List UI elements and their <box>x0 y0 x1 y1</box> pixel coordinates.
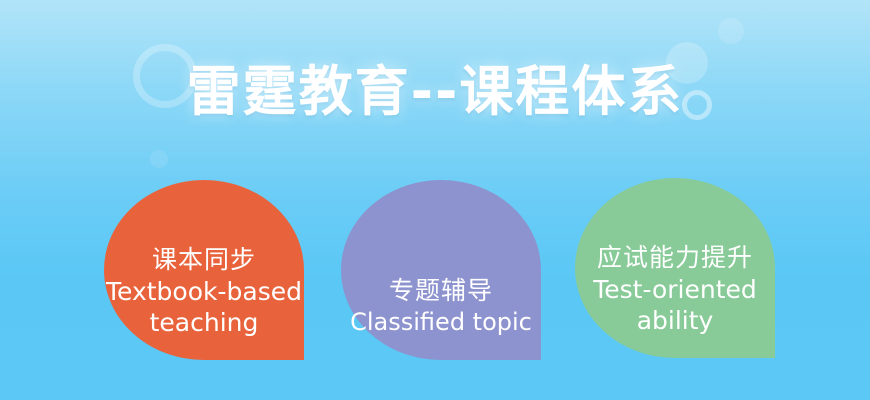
category-card-test-oriented[interactable]: 应试能力提升 Test-oriented ability <box>575 178 775 358</box>
banner-title: 雷霆教育--课程体系 <box>0 58 870 126</box>
course-system-banner: 雷霆教育--课程体系 课本同步 Textbook-based teaching … <box>0 0 870 400</box>
category-card-title-en-line2: teaching <box>150 307 259 338</box>
bubble-soft-topright-icon <box>718 18 744 44</box>
category-card-classified-topic[interactable]: 专题辅导 Classified topic <box>341 180 541 360</box>
category-blob-group: 课本同步 Textbook-based teaching 专题辅导 Classi… <box>0 180 870 365</box>
category-card-title-en-line1: Classified topic <box>350 307 532 338</box>
category-card-title-en-line2: ability <box>637 305 714 336</box>
category-card-title-en-line1: Test-oriented <box>593 274 757 305</box>
category-card-title-cn: 应试能力提升 <box>597 241 753 274</box>
category-card-title-en-line1: Textbook-based <box>106 276 302 307</box>
category-card-title-cn: 专题辅导 <box>389 274 493 307</box>
bubble-soft-left-icon <box>150 150 168 168</box>
category-card-title-cn: 课本同步 <box>152 243 256 276</box>
category-card-textbook-based[interactable]: 课本同步 Textbook-based teaching <box>104 180 304 360</box>
